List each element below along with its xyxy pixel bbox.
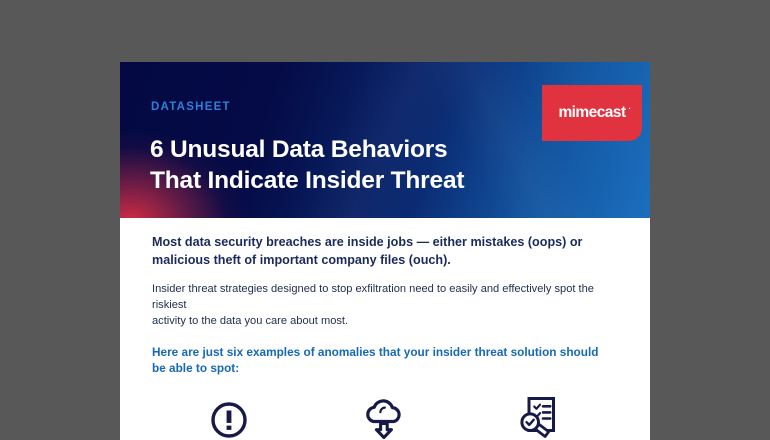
- anomaly-card-file-mime-type-mismatch: File Mime Type Mismatch Thanos just rena…: [461, 394, 616, 440]
- document-prompt-paragraph: Here are just six examples of anomalies …: [152, 344, 616, 377]
- anomaly-card-downloads-unmanaged-devices: Downloads to Unmanaged Devices Loki work…: [152, 394, 307, 440]
- trademark-icon: ·: [628, 105, 630, 113]
- anomaly-card-cloud-look-alikes: Cloud Look-Alikes Marketing uses corpora…: [307, 394, 462, 440]
- cloud-download-icon: [313, 394, 456, 440]
- document-eyebrow-label: DATASHEET: [151, 101, 231, 113]
- mimecast-wordmark: mimecast·: [558, 104, 625, 122]
- document-headline: 6 Unusual Data Behaviors That Indicate I…: [150, 134, 464, 197]
- document-header-banner: DATASHEET 6 Unusual Data Behaviors That …: [120, 62, 650, 218]
- document-body: Most data security breaches are inside j…: [120, 218, 650, 440]
- datasheet-page: DATASHEET 6 Unusual Data Behaviors That …: [120, 62, 650, 440]
- document-lede-paragraph: Most data security breaches are inside j…: [152, 234, 616, 270]
- anomaly-card-list: Downloads to Unmanaged Devices Loki work…: [152, 394, 616, 440]
- mimecast-logo: mimecast·: [542, 85, 642, 141]
- document-intro-paragraph: Insider threat strategies designed to st…: [152, 281, 616, 330]
- exclamation-circle-icon: [158, 394, 301, 440]
- document-search-icon: [467, 394, 610, 440]
